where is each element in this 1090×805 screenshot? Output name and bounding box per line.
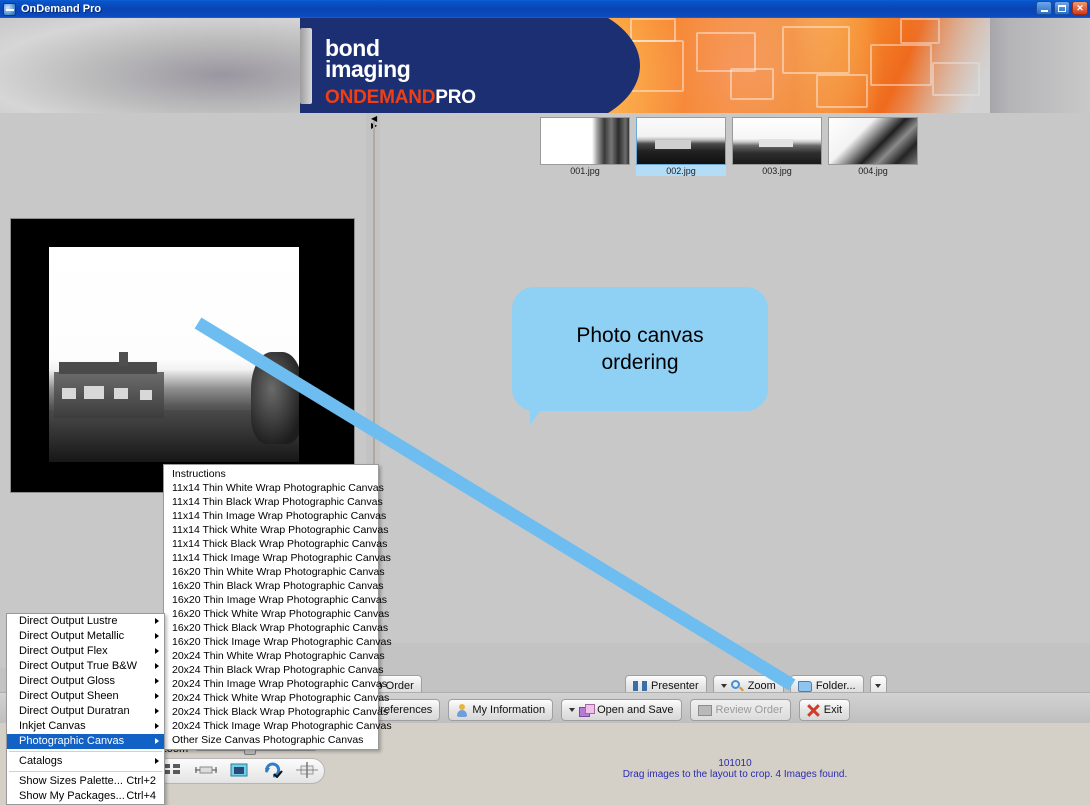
chevron-right-icon (155, 723, 159, 729)
menu-item-inkjet-canvas[interactable]: Inkjet Canvas (7, 719, 164, 734)
chevron-right-icon (155, 663, 159, 669)
magnifier-icon (731, 680, 744, 693)
minimize-button[interactable] (1036, 1, 1052, 15)
brand-pro: PRO (435, 87, 476, 108)
my-information-label: My Information (472, 704, 545, 716)
open-save-icon (579, 704, 593, 716)
exit-button[interactable]: Exit (799, 699, 850, 721)
menu-item-direct-output-sheen[interactable]: Direct Output Sheen (7, 689, 164, 704)
thumbnail-item[interactable]: 001.jpg (540, 117, 630, 181)
chevron-right-icon (155, 678, 159, 684)
app-icon (3, 3, 16, 16)
photo-chimney (119, 352, 128, 366)
submenu-item[interactable]: 16x20 Thin Black Wrap Photographic Canva… (164, 579, 378, 593)
thumbnail-item[interactable]: 003.jpg (732, 117, 822, 181)
submenu-item[interactable]: 16x20 Thin White Wrap Photographic Canva… (164, 565, 378, 579)
submenu-item[interactable]: 11x14 Thick Image Wrap Photographic Canv… (164, 551, 378, 565)
photo-tree-right (251, 352, 299, 444)
chevron-right-icon (155, 633, 159, 639)
layout-canvas-preview[interactable] (10, 218, 355, 493)
photo-house (54, 372, 164, 418)
folder-button-label: Folder... (816, 680, 856, 692)
menu-item-label: Show My Packages... (19, 790, 125, 802)
menu-item-label: Direct Output Metallic (19, 630, 124, 642)
presenter-label: Presenter (651, 680, 699, 692)
main-action-toolbar: ✔ Preferences My Information Open and Sa… (348, 699, 850, 721)
submenu-item[interactable]: 20x24 Thin Black Wrap Photographic Canva… (164, 663, 378, 677)
exit-x-icon (807, 704, 820, 717)
menu-item-label: Inkjet Canvas (19, 720, 86, 732)
thumbnail-strip: 001.jpg 002.jpg 003.jpg 004.jpg (540, 117, 930, 181)
thumbnail-image (636, 117, 726, 165)
brand-ondemand: ONDEMAND (325, 87, 435, 108)
submenu-item[interactable]: Other Size Canvas Photographic Canvas (164, 733, 378, 747)
exit-label: Exit (824, 704, 842, 716)
rotate-icon[interactable] (263, 762, 285, 780)
menu-item-direct-output-duratran[interactable]: Direct Output Duratran (7, 704, 164, 719)
thumbnail-image (732, 117, 822, 165)
thumbnail-label: 001.jpg (540, 165, 630, 176)
review-order-button[interactable]: Review Order (690, 699, 791, 721)
zoom-button-label: Zoom (748, 680, 776, 692)
thumbnail-label: 002.jpg (636, 165, 726, 176)
resize-horizontal-icon[interactable] (195, 762, 217, 780)
window-title: OnDemand Pro (21, 3, 101, 15)
align-grid-icon[interactable] (162, 762, 184, 780)
chevron-right-icon (155, 648, 159, 654)
menu-item-label: Direct Output True B&W (19, 660, 137, 672)
submenu-item[interactable]: 11x14 Thin Black Wrap Photographic Canva… (164, 495, 378, 509)
chevron-down-icon (721, 684, 727, 688)
submenu-item[interactable]: 20x24 Thin Image Wrap Photographic Canva… (164, 677, 378, 691)
thumbnail-item[interactable]: 004.jpg (828, 117, 918, 181)
brand-line-2: imaging (325, 58, 476, 80)
title-bar: OnDemand Pro ✕ (0, 0, 1090, 18)
folder-icon (798, 681, 812, 692)
menu-separator (9, 771, 162, 772)
banner-gradient-left (0, 18, 310, 113)
open-and-save-label: Open and Save (597, 704, 673, 716)
menu-item-photographic-canvas[interactable]: Photographic Canvas (7, 734, 164, 749)
thumbnail-image (540, 117, 630, 165)
submenu-item[interactable]: 20x24 Thick Black Wrap Photographic Canv… (164, 705, 378, 719)
menu-item-label: Direct Output Flex (19, 645, 108, 657)
menu-item-label: Direct Output Sheen (19, 690, 119, 702)
brand-line-1: bond (325, 38, 476, 58)
menu-item-label: Direct Output Duratran (19, 705, 130, 717)
menu-item-catalogs[interactable]: Catalogs (7, 754, 164, 769)
submenu-item[interactable]: 20x24 Thick White Wrap Photographic Canv… (164, 691, 378, 705)
submenu-item[interactable]: 11x14 Thin Image Wrap Photographic Canva… (164, 509, 378, 523)
menu-item-accelerator: Ctrl+2 (126, 774, 156, 789)
product-context-menu: Direct Output Lustre Direct Output Metal… (6, 613, 165, 805)
submenu-item[interactable]: 16x20 Thin Image Wrap Photographic Canva… (164, 593, 378, 607)
chevron-right-icon (155, 693, 159, 699)
work-area: ◀▶ 001.jpg 002.jpg 003.jpg (0, 113, 1090, 723)
menu-item-show-sizes-palette[interactable]: Show Sizes Palette...Ctrl+2 (7, 774, 164, 789)
preview-photo (49, 247, 299, 462)
menu-item-direct-output-gloss[interactable]: Direct Output Gloss (7, 674, 164, 689)
menu-item-label: Direct Output Gloss (19, 675, 115, 687)
chevron-right-icon (155, 738, 159, 744)
close-button[interactable]: ✕ (1072, 1, 1088, 15)
person-icon (456, 704, 468, 717)
thumbnail-label: 004.jpg (828, 165, 918, 176)
menu-item-direct-output-flex[interactable]: Direct Output Flex (7, 644, 164, 659)
chevron-down-icon (875, 684, 881, 688)
presenter-icon (633, 680, 647, 692)
callout-text: Photo canvasordering (576, 322, 703, 376)
brand-product-name: ONDEMANDPRO (325, 87, 476, 109)
thumbnail-image (828, 117, 918, 165)
my-information-button[interactable]: My Information (448, 699, 553, 721)
chevron-right-icon (155, 618, 159, 624)
submenu-item[interactable]: Instructions (164, 467, 378, 481)
annotation-callout: Photo canvasordering (512, 287, 768, 411)
open-and-save-button[interactable]: Open and Save (561, 699, 681, 721)
menu-item-accelerator: Ctrl+4 (126, 789, 156, 804)
submenu-item[interactable]: 11x14 Thick White Wrap Photographic Canv… (164, 523, 378, 537)
photographic-canvas-submenu: Instructions 11x14 Thin White Wrap Photo… (163, 464, 379, 750)
submenu-item[interactable]: 20x24 Thick Image Wrap Photographic Canv… (164, 719, 378, 733)
menu-item-label: Catalogs (19, 755, 62, 767)
submenu-item[interactable]: 11x14 Thin White Wrap Photographic Canva… (164, 481, 378, 495)
thumbnail-label: 003.jpg (732, 165, 822, 176)
window-controls: ✕ (1036, 1, 1088, 15)
status-code: 101010 (380, 758, 1090, 769)
chevron-down-icon (569, 708, 575, 712)
banner-tab-accent (300, 28, 312, 104)
thumbnail-item[interactable]: 002.jpg (636, 117, 726, 181)
status-message: Drag images to the layout to crop. 4 Ima… (380, 769, 1090, 780)
brand-banner: bond imaging ONDEMANDPRO (0, 18, 1090, 113)
application-window: OnDemand Pro ✕ bond imaging (0, 0, 1090, 723)
menu-item-show-my-packages[interactable]: Show My Packages...Ctrl+4 (7, 789, 164, 804)
submenu-item[interactable]: 20x24 Thin White Wrap Photographic Canva… (164, 649, 378, 663)
menu-item-direct-output-true-bw[interactable]: Direct Output True B&W (7, 659, 164, 674)
submenu-item[interactable]: 16x20 Thick Black Wrap Photographic Canv… (164, 621, 378, 635)
submenu-item[interactable]: 11x14 Thick Black Wrap Photographic Canv… (164, 537, 378, 551)
menu-item-direct-output-lustre[interactable]: Direct Output Lustre (7, 614, 164, 629)
banner-fade-right (910, 18, 1090, 113)
box-icon (698, 705, 712, 716)
photo-roof (59, 362, 157, 374)
review-order-label: Review Order (716, 704, 783, 716)
brand-logo: bond imaging ONDEMANDPRO (325, 38, 476, 109)
maximize-button[interactable] (1054, 1, 1070, 15)
status-area: 101010 Drag images to the layout to crop… (380, 758, 1090, 788)
align-center-icon[interactable] (296, 762, 318, 780)
chevron-right-icon (155, 708, 159, 714)
menu-item-direct-output-metallic[interactable]: Direct Output Metallic (7, 629, 164, 644)
menu-item-label: Show Sizes Palette... (19, 775, 123, 787)
layout-tool-strip (155, 758, 325, 784)
submenu-item[interactable]: 16x20 Thick White Wrap Photographic Canv… (164, 607, 378, 621)
menu-item-label: Direct Output Lustre (19, 615, 117, 627)
menu-separator (9, 751, 162, 752)
chevron-right-icon (155, 758, 159, 764)
menu-item-label: Photographic Canvas (19, 735, 124, 747)
crop-image-icon[interactable] (229, 762, 251, 780)
submenu-item[interactable]: 16x20 Thick Image Wrap Photographic Canv… (164, 635, 378, 649)
